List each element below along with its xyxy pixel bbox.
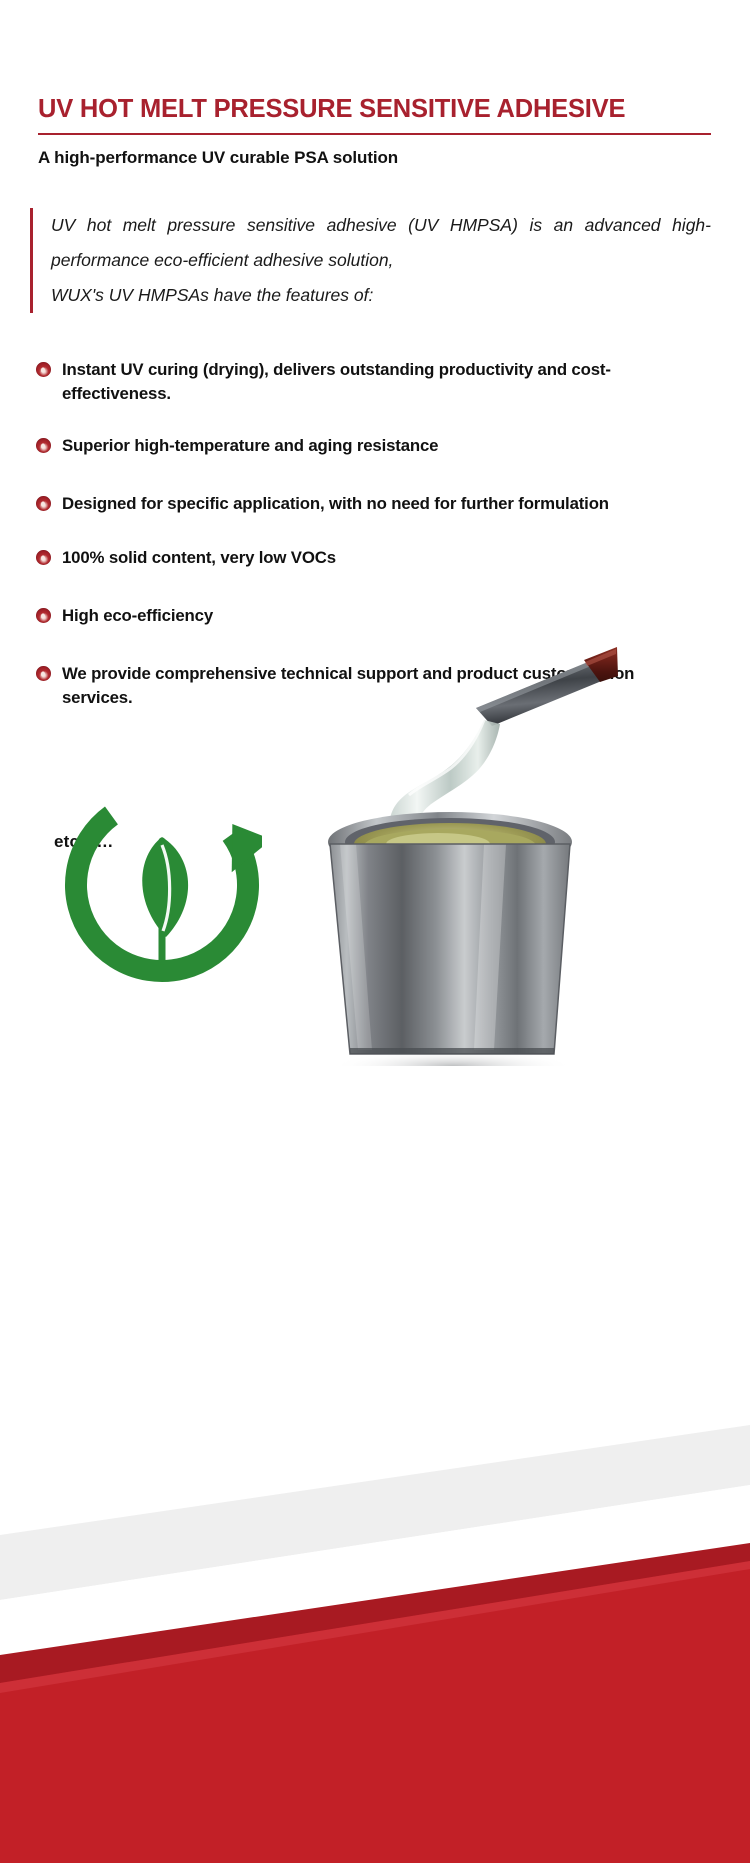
adhesive-pouring-into-tin-can-photo <box>288 636 618 1066</box>
page-title-wrap: UV HOT MELT PRESSURE SENSITIVE ADHESIVE <box>38 95 713 123</box>
list-item-label: Instant UV curing (drying), delivers out… <box>62 358 706 406</box>
intro-line-3: WUX's UV HMPSAs have the features of: <box>51 278 711 313</box>
list-item: Superior high-temperature and aging resi… <box>36 434 716 460</box>
intro-paragraph: UV hot melt pressure sensitive adhesive … <box>51 208 711 313</box>
list-item: Instant UV curing (drying), delivers out… <box>36 358 716 406</box>
list-item-label: 100% solid content, very low VOCs <box>62 546 706 570</box>
bullet-sphere-icon <box>36 362 51 377</box>
list-item: Designed for specific application, with … <box>36 492 716 518</box>
spatula-graphic <box>476 647 618 726</box>
bullet-sphere-icon <box>36 550 51 565</box>
list-item-label: High eco-efficiency <box>62 604 706 628</box>
tin-can-graphic <box>328 812 573 1066</box>
bullet-sphere-icon <box>36 496 51 511</box>
list-item: High eco-efficiency <box>36 604 716 630</box>
bottom-wave-decoration <box>0 1163 750 1863</box>
bullet-sphere-icon <box>36 666 51 681</box>
eco-recycle-leaf-logo <box>62 785 262 985</box>
bullet-sphere-icon <box>36 608 51 623</box>
list-item: 100% solid content, very low VOCs <box>36 546 716 572</box>
page-title: UV HOT MELT PRESSURE SENSITIVE ADHESIVE <box>38 95 713 123</box>
list-item-label: Superior high-temperature and aging resi… <box>62 434 706 458</box>
intro-line-1: UV hot melt pressure sensitive adhesive … <box>51 215 573 235</box>
title-underline-rule <box>38 133 711 135</box>
page-subtitle: A high-performance UV curable PSA soluti… <box>38 148 398 168</box>
poster-page: UV HOT MELT PRESSURE SENSITIVE ADHESIVE … <box>0 0 750 1863</box>
bullet-sphere-icon <box>36 438 51 453</box>
list-item-label: Designed for specific application, with … <box>62 492 706 516</box>
intro-quote-block: UV hot melt pressure sensitive adhesive … <box>30 208 708 313</box>
